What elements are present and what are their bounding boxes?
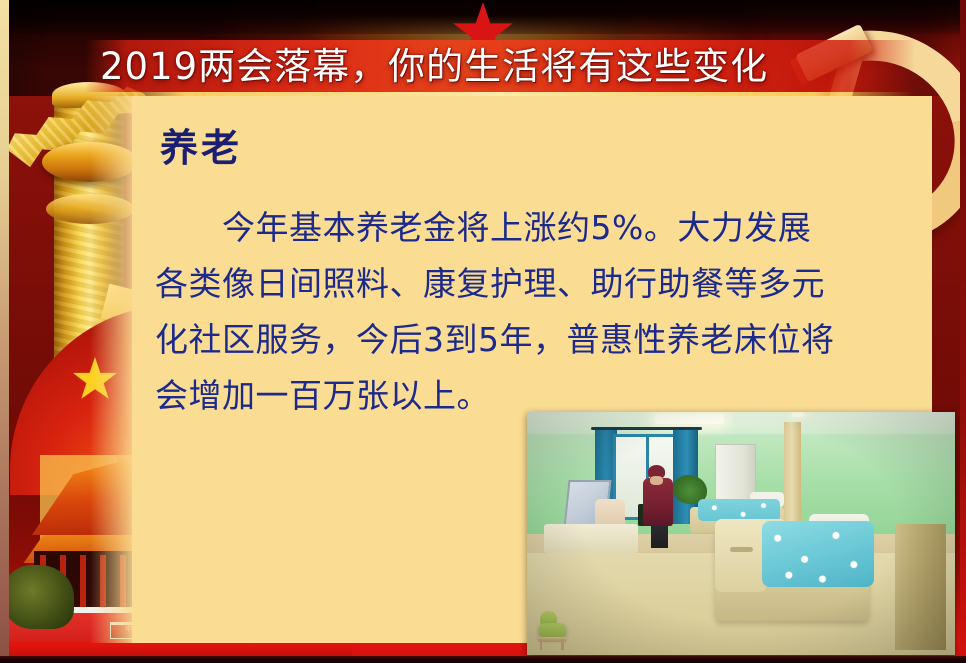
panel-left-fade — [90, 96, 138, 643]
body-text: 今年基本养老金将上涨约5%。大力发展 各类像日间照料、康复护理、助行助餐等多元 … — [155, 200, 915, 424]
page-title: 2019两会落幕，你的生活将有这些变化 — [100, 44, 920, 90]
body-line: 今年基本养老金将上涨约5%。大力发展 — [155, 200, 915, 256]
section-heading: 养老 — [160, 126, 242, 170]
left-page-edge — [0, 0, 9, 663]
slide-canvas: 中华人民共和国万岁 世界人民大团结万岁 2019两会落幕，你的生活将有这些变化 … — [0, 0, 966, 663]
gate-shrubbery — [4, 565, 74, 629]
eldercare-room-photo — [527, 412, 955, 655]
body-line: 各类像日间照料、康复护理、助行助餐等多元 — [155, 256, 915, 312]
bottom-page-edge — [0, 656, 966, 663]
photo-vignette — [527, 412, 955, 655]
body-line: 化社区服务，今后3到5年，普惠性养老床位将 — [155, 312, 915, 368]
right-page-edge — [960, 0, 966, 663]
